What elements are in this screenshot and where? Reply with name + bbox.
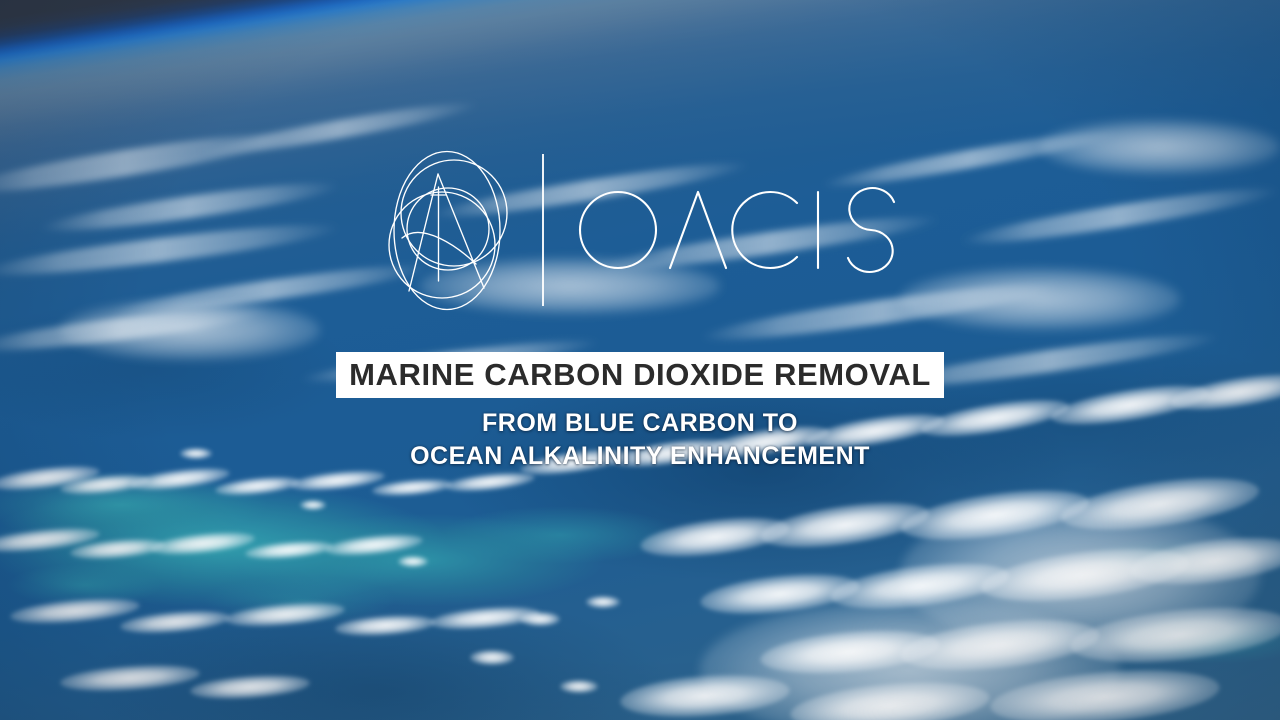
background-vignette	[0, 0, 1280, 720]
title-slide: MARINE CARBON DIOXIDE REMOVAL FROM BLUE …	[0, 0, 1280, 720]
